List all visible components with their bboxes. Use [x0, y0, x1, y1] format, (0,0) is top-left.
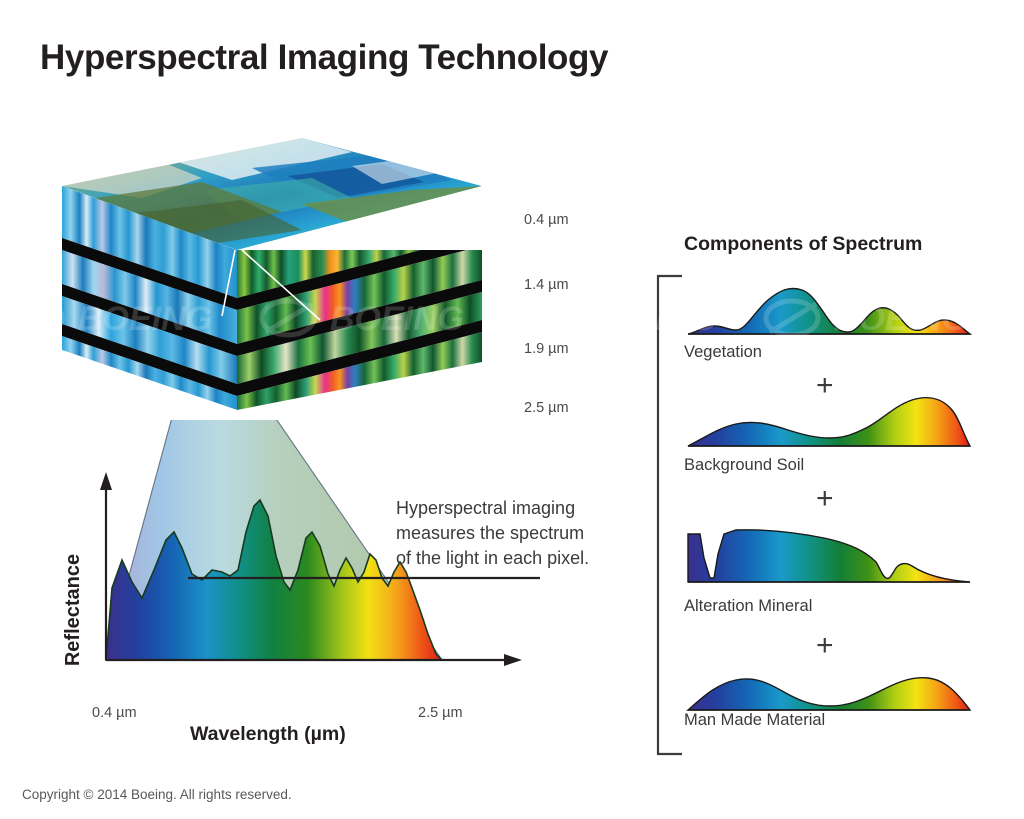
x-axis-tick-start: 0.4 µm	[92, 705, 137, 721]
annotation-text: Hyperspectral imaging measures the spect…	[396, 496, 636, 571]
component-label-vegetation: Vegetation	[684, 343, 762, 362]
wavelength-label-1: 1.4 µm	[524, 277, 569, 293]
component-alteration-mineral-curve	[684, 518, 974, 588]
component-label-man-made-material: Man Made Material	[684, 711, 825, 730]
component-vegetation-curve	[684, 278, 974, 338]
x-axis-label: Wavelength (µm)	[190, 723, 346, 746]
x-axis-arrow	[504, 654, 522, 666]
component-background-soil-curve	[684, 390, 974, 450]
component-label-background-soil: Background Soil	[684, 456, 804, 475]
plus-sign-3: +	[816, 631, 834, 661]
wavelength-label-3: 2.5 µm	[524, 400, 569, 416]
x-axis-tick-end: 2.5 µm	[418, 705, 463, 721]
component-man-made-material-curve	[684, 662, 974, 714]
hyperspectral-data-cube	[52, 138, 532, 438]
annotation-line-3: of the light in each pixel.	[396, 546, 636, 571]
wavelength-label-0: 0.4 µm	[524, 212, 569, 228]
page-title: Hyperspectral Imaging Technology	[40, 38, 608, 78]
y-axis-arrow	[100, 472, 112, 490]
wavelength-label-2: 1.9 µm	[524, 341, 569, 357]
component-label-alteration-mineral: Alteration Mineral	[684, 597, 812, 616]
y-axis-label: Reflectance	[0, 595, 163, 625]
annotation-line-2: measures the spectrum	[396, 521, 636, 546]
copyright-notice: Copyright © 2014 Boeing. All rights rese…	[22, 787, 292, 802]
infographic-canvas: Hyperspectral Imaging Technology	[0, 0, 1024, 819]
annotation-line-1: Hyperspectral imaging	[396, 496, 636, 521]
components-panel-title: Components of Spectrum	[684, 233, 922, 256]
plus-sign-2: +	[816, 484, 834, 514]
